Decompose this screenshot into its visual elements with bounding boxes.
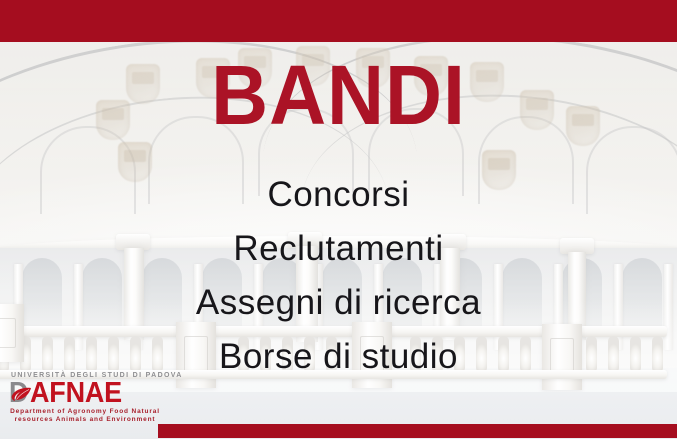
top-red-bar xyxy=(0,0,677,42)
dafnae-logo: UNIVERSITÀ DEGLI STUDI DI PADOVA D AFNAE… xyxy=(9,372,174,434)
subtitle-item-concorsi: Concorsi xyxy=(0,168,677,222)
department-line-2: resources Animals and Environment xyxy=(9,416,161,423)
bandi-banner: BANDI Concorsi Reclutamenti Assegni di r… xyxy=(0,0,677,439)
logo-wordmark: D AFNAE xyxy=(9,380,174,407)
page-title: BANDI xyxy=(20,52,656,138)
logo-letters-afnae: AFNAE xyxy=(30,380,122,407)
bottom-red-bar xyxy=(158,424,677,438)
department-line-1: Department of Agronomy Food Natural xyxy=(9,408,161,415)
subtitle-list: Concorsi Reclutamenti Assegni di ricerca… xyxy=(0,168,677,384)
logo-letter-d: D xyxy=(9,380,28,407)
subtitle-item-reclutamenti: Reclutamenti xyxy=(0,222,677,276)
subtitle-item-assegni-di-ricerca: Assegni di ricerca xyxy=(0,276,677,330)
